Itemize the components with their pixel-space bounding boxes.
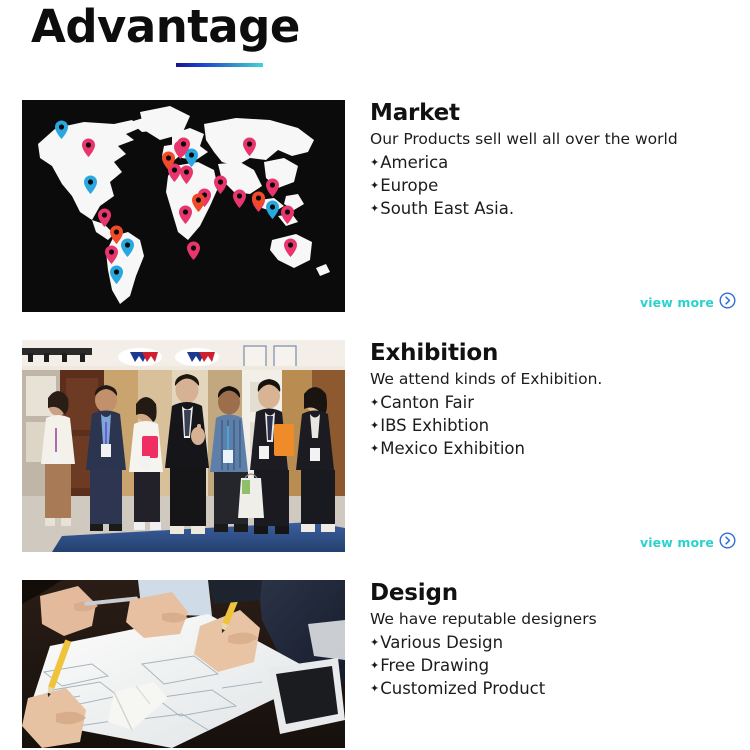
list-item-label: Free Drawing [380,656,489,675]
list-item: ✦Mexico Exhibition [370,437,730,460]
exhibition-copy: Exhibition We attend kinds of Exhibition… [370,340,730,460]
list-item-label: Europe [380,176,438,195]
diamond-bullet-icon: ✦ [370,174,379,197]
design-title: Design [370,580,730,607]
exhibition-image [22,340,345,552]
list-item: ✦Customized Product [370,677,730,700]
market-subtitle: Our Products sell well all over the worl… [370,129,730,150]
trade-show-photo-graphic [22,340,345,552]
list-item: ✦Europe [370,174,730,197]
exhibition-view-more-link[interactable]: view more [640,532,736,553]
chevron-right-circle-icon [719,532,736,553]
design-copy: Design We have reputable designers ✦Vari… [370,580,730,700]
advantage-section-market: Market Our Products sell well all over t… [0,100,750,312]
market-copy: Market Our Products sell well all over t… [370,100,730,220]
list-item: ✦Canton Fair [370,391,730,414]
exhibition-feature-list: ✦Canton Fair ✦IBS Exhibtion ✦Mexico Exhi… [370,391,730,460]
list-item-label: Customized Product [380,679,545,698]
list-item: ✦Various Design [370,631,730,654]
list-item-label: Various Design [380,633,503,652]
exhibition-title: Exhibition [370,340,730,367]
list-item: ✦South East Asia. [370,197,730,220]
title-underline-rule [176,63,263,67]
market-image [22,100,345,312]
list-item: ✦America [370,151,730,174]
list-item: ✦IBS Exhibtion [370,414,730,437]
page-header: Advantage [0,0,750,92]
diamond-bullet-icon: ✦ [370,197,379,220]
advantage-section-design: Design We have reputable designers ✦Vari… [0,580,750,748]
diamond-bullet-icon: ✦ [370,677,379,700]
page-title: Advantage [31,0,300,56]
list-item-label: Canton Fair [380,393,474,412]
design-feature-list: ✦Various Design ✦Free Drawing ✦Customize… [370,631,730,700]
design-image [22,580,345,748]
exhibition-subtitle: We attend kinds of Exhibition. [370,369,730,390]
chevron-right-circle-icon [719,292,736,313]
market-feature-list: ✦America ✦Europe ✦South East Asia. [370,151,730,220]
diamond-bullet-icon: ✦ [370,391,379,414]
designers-drawing-photo-graphic [22,580,345,748]
list-item-label: South East Asia. [380,199,514,218]
view-more-label: view more [640,535,714,550]
advantage-section-exhibition: Exhibition We attend kinds of Exhibition… [0,340,750,552]
market-view-more-link[interactable]: view more [640,292,736,313]
diamond-bullet-icon: ✦ [370,654,379,677]
view-more-label: view more [640,295,714,310]
list-item-label: America [380,153,448,172]
design-subtitle: We have reputable designers [370,609,730,630]
diamond-bullet-icon: ✦ [370,414,379,437]
list-item-label: IBS Exhibtion [380,416,489,435]
market-title: Market [370,100,730,127]
diamond-bullet-icon: ✦ [370,631,379,654]
world-map-graphic [22,100,345,312]
diamond-bullet-icon: ✦ [370,151,379,174]
list-item: ✦Free Drawing [370,654,730,677]
list-item-label: Mexico Exhibition [380,439,525,458]
diamond-bullet-icon: ✦ [370,437,379,460]
